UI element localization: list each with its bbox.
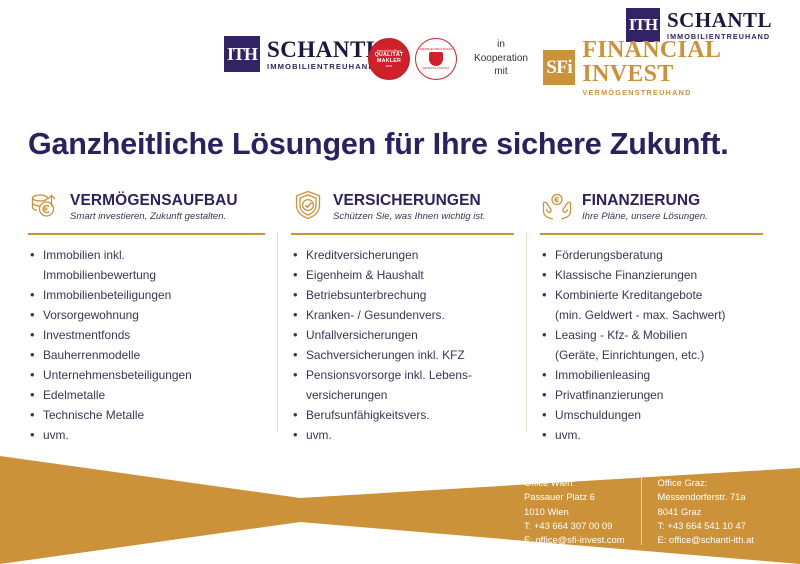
cooperation-line-1: in — [470, 38, 532, 52]
list-item: Bauherrenmodelle — [28, 345, 265, 365]
column-title: VERSICHERUNGEN — [333, 192, 486, 210]
list-item: Sachversicherungen inkl. KFZ — [291, 345, 514, 365]
list-item: Kreditversicherungen — [291, 245, 514, 265]
office-name: Office Graz: — [658, 476, 754, 490]
list-item: Pensionsvorsorge inkl. Lebens- — [291, 365, 514, 385]
wko-immobilientreuhaender-seal-icon: IMMOBILIENTREUHÄNDER GEPRÜFTE QUALITÄT — [415, 38, 457, 80]
cooperation-line-3: mit — [470, 65, 532, 79]
service-list: Förderungsberatung Klassische Finanzieru… — [540, 245, 763, 445]
office-phone[interactable]: T: +43 664 541 10 47 — [658, 519, 754, 533]
list-item: Immobilienleasing — [540, 365, 763, 385]
cooperation-note: in Kooperation mit — [470, 38, 532, 79]
list-item-continuation: (min. Geldwert - max. Sachwert) — [540, 305, 763, 325]
column-vermoegensaufbau: VERMÖGENSAUFBAU Smart investieren, Zukun… — [28, 186, 277, 445]
page-headline: Ganzheitliche Lösungen für Ihre sichere … — [28, 127, 728, 162]
list-item: Kombinierte Kreditangebote — [540, 285, 763, 305]
financial-invest-subtitle: VERMÖGENSTREUHAND — [582, 88, 800, 97]
service-list: Immobilien inkl. Immobilienbewertung Imm… — [28, 245, 265, 445]
schantl-logo-main: ITH SCHANTL IMMOBILIENTREUHAND — [224, 36, 382, 72]
list-item: Leasing - Kfz- & Mobilien — [540, 325, 763, 345]
qualitaets-makler-seal-icon: ImmobilienRing QUALITÄT MAKLER 2024 — [368, 38, 410, 80]
office-street: Passauer Platz 6 — [524, 490, 625, 504]
list-item: Unfallversicherungen — [291, 325, 514, 345]
contact-divider — [641, 478, 642, 545]
footer-contact-block: Office Wien: Passauer Platz 6 1010 Wien … — [524, 476, 754, 547]
list-item: Kranken- / Gesundenvers. — [291, 305, 514, 325]
seal-bottom-text: 2024 — [386, 65, 393, 68]
office-email[interactable]: E: office@schantl-ith.at — [658, 533, 754, 547]
list-item: Vorsorgewohnung — [28, 305, 265, 325]
financial-invest-name: FINANCIAL INVEST — [582, 38, 800, 86]
column-finanzierung: FINANZIERUNG Ihre Pläne, unsere Lösungen… — [526, 186, 775, 445]
cooperation-line-2: Kooperation — [470, 52, 532, 66]
office-wien: Office Wien: Passauer Platz 6 1010 Wien … — [524, 476, 625, 547]
service-columns: VERMÖGENSAUFBAU Smart investieren, Zukun… — [28, 186, 776, 445]
list-item: Edelmetalle — [28, 385, 265, 405]
column-title: FINANZIERUNG — [582, 192, 708, 210]
list-item: Technische Metalle — [28, 405, 265, 425]
column-subtitle: Schützen Sie, was Ihnen wichtig ist. — [333, 211, 486, 222]
list-item: Förderungsberatung — [540, 245, 763, 265]
schantl-brand-name: SCHANTL — [667, 10, 772, 31]
office-street: Messendorferstr. 71a — [658, 490, 754, 504]
list-item: Unternehmensbeteiligungen — [28, 365, 265, 385]
list-item: Privatfinanzierungen — [540, 385, 763, 405]
sfi-financial-invest-logo: SFi FINANCIAL INVEST VERMÖGENSTREUHAND — [543, 38, 800, 97]
column-title: VERMÖGENSAUFBAU — [70, 192, 238, 210]
seal-top-text: IMMOBILIENTREUHÄNDER — [419, 48, 453, 51]
column-divider — [28, 233, 265, 235]
column-versicherungen: VERSICHERUNGEN Schützen Sie, was Ihnen w… — [277, 186, 526, 445]
list-item-continuation: versicherungen — [291, 385, 514, 405]
office-city: 8041 Graz — [658, 505, 754, 519]
list-item: Betriebsunterbrechung — [291, 285, 514, 305]
column-subtitle: Ihre Pläne, unsere Lösungen. — [582, 211, 708, 222]
service-list: Kreditversicherungen Eigenheim & Haushal… — [291, 245, 514, 445]
list-item: Investmentfonds — [28, 325, 265, 345]
header: ITH SCHANTL IMMOBILIENTREUHAND ITH SCHAN… — [0, 0, 800, 108]
hands-holding-euro-icon — [540, 188, 574, 227]
office-phone[interactable]: T: +43 664 307 00 09 — [524, 519, 625, 533]
coins-euro-growth-icon — [28, 188, 62, 227]
list-item: Umschuldungen — [540, 405, 763, 425]
quality-seals: ImmobilienRing QUALITÄT MAKLER 2024 IMMO… — [368, 38, 457, 80]
schantl-brand-subtitle: IMMOBILIENTREUHAND — [267, 63, 382, 71]
column-divider — [540, 233, 763, 235]
office-city: 1010 Wien — [524, 505, 625, 519]
column-subtitle: Smart investieren, Zukunft gestalten. — [70, 211, 238, 222]
seal-bottom-text: GEPRÜFTE QUALITÄT — [422, 67, 449, 70]
list-item: Klassische Finanzierungen — [540, 265, 763, 285]
column-header: VERMÖGENSAUFBAU Smart investieren, Zukun… — [28, 186, 265, 228]
office-name: Office Wien: — [524, 476, 625, 490]
schantl-brand-name: SCHANTL — [267, 38, 382, 61]
column-header: VERSICHERUNGEN Schützen Sie, was Ihnen w… — [291, 186, 514, 228]
column-divider — [291, 233, 514, 235]
column-header: FINANZIERUNG Ihre Pläne, unsere Lösungen… — [540, 186, 763, 228]
sfi-monogram-icon: SFi — [543, 50, 575, 85]
office-graz: Office Graz: Messendorferstr. 71a 8041 G… — [658, 476, 754, 547]
list-item: Immobilien inkl. — [28, 245, 265, 265]
list-item: Berufsunfähigkeitsvers. — [291, 405, 514, 425]
list-item: Eigenheim & Haushalt — [291, 265, 514, 285]
list-item-continuation: (Geräte, Einrichtungen, etc.) — [540, 345, 763, 365]
ith-monogram-icon: ITH — [224, 36, 260, 72]
list-item-continuation: Immobilienbewertung — [28, 265, 265, 285]
crest-icon — [429, 52, 443, 66]
shield-check-icon — [291, 188, 325, 227]
list-item: Immobilienbeteiligungen — [28, 285, 265, 305]
office-email[interactable]: E: office@sfi-invest.com — [524, 533, 625, 547]
